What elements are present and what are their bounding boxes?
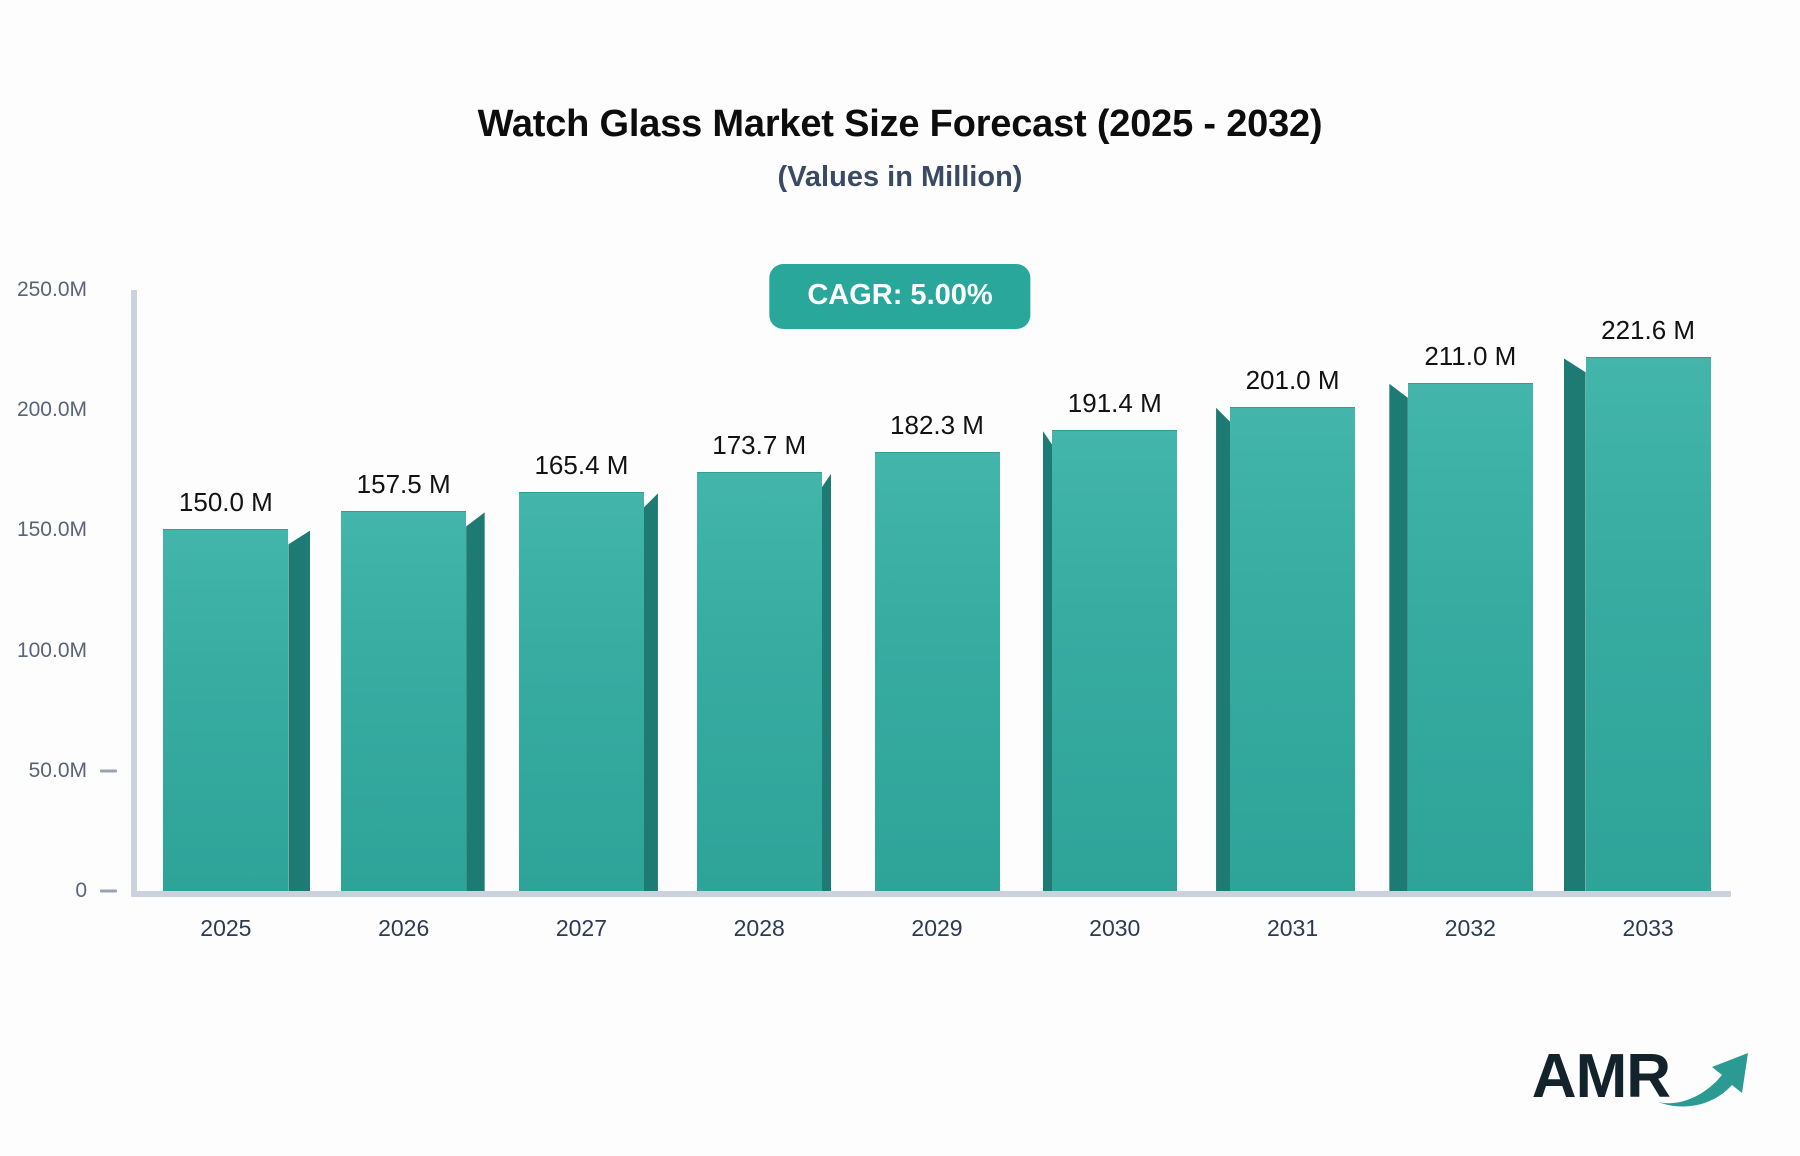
growth-arrow-icon: [1656, 1047, 1752, 1114]
bar-column[interactable]: 157.5 M: [341, 290, 466, 891]
x-axis-labels: 202520262027202820292030203120322033: [131, 915, 1731, 955]
bar-front-face: [1408, 383, 1533, 891]
bar-column[interactable]: 150.0 M: [163, 290, 288, 891]
bar-series: 150.0 M157.5 M165.4 M173.7 M182.3 M191.4…: [131, 290, 1731, 897]
bar-value-label: 211.0 M: [1424, 341, 1516, 372]
bar-value-label: 191.4 M: [1068, 388, 1162, 419]
bar-column[interactable]: 182.3 M: [875, 290, 1000, 891]
logo-wordmark: AMR: [1532, 1046, 1670, 1108]
bar-value-label: 221.6 M: [1601, 315, 1695, 346]
bar-value-label: 201.0 M: [1246, 365, 1340, 396]
x-axis-tick-label: 2029: [911, 915, 962, 942]
bar-front-face: [697, 472, 822, 891]
bar-front-face: [1230, 407, 1355, 891]
bar-value-label: 165.4 M: [534, 450, 628, 481]
bar-column[interactable]: 173.7 M: [697, 290, 822, 891]
y-axis-tick-label: 100.0M: [17, 639, 87, 663]
x-axis-tick-label: 2031: [1267, 915, 1318, 942]
bar-front-face: [1052, 430, 1177, 891]
bar-value-label: 157.5 M: [357, 469, 451, 500]
y-axis-tick-label: 200.0M: [17, 398, 87, 422]
bar-value-label: 173.7 M: [712, 430, 806, 461]
bar-front-face: [1586, 357, 1711, 891]
y-axis-labels: 250.0M200.0M150.0M100.0M50.0M0: [0, 290, 131, 897]
bar-side-face: [288, 530, 310, 891]
bar-column[interactable]: 191.4 M: [1052, 290, 1177, 891]
bar-front-face: [519, 492, 644, 891]
x-axis-tick-label: 2032: [1445, 915, 1496, 942]
bar-value-label: 182.3 M: [890, 410, 984, 441]
bar-column[interactable]: 165.4 M: [519, 290, 644, 891]
bar-column[interactable]: 221.6 M: [1586, 290, 1711, 891]
bar-side-face: [466, 512, 485, 891]
title-block: Watch Glass Market Size Forecast (2025 -…: [0, 104, 1800, 194]
y-axis-tick-label: 150.0M: [17, 518, 87, 542]
bar-side-face: [644, 493, 658, 891]
y-axis-tick-mark: [100, 890, 117, 893]
chart-subtitle: (Values in Million): [0, 162, 1800, 194]
x-axis-tick-label: 2030: [1089, 915, 1140, 942]
x-axis-tick-label: 2028: [734, 915, 785, 942]
bar-front-face: [163, 529, 288, 891]
bar-side-face: [822, 473, 832, 891]
y-axis-tick-label: 250.0M: [17, 278, 87, 302]
bar-front-face: [341, 511, 466, 891]
bar-column[interactable]: 201.0 M: [1230, 290, 1355, 891]
bar-value-label: 150.0 M: [179, 487, 273, 518]
amr-logo: AMR: [1532, 1040, 1752, 1114]
x-axis-tick-label: 2025: [200, 915, 251, 942]
bar-side-face: [1043, 431, 1053, 891]
y-axis-tick-label: 0: [75, 879, 87, 903]
y-axis-tick-mark: [100, 769, 117, 772]
plot-area: 150.0 M157.5 M165.4 M173.7 M182.3 M191.4…: [131, 290, 1731, 897]
x-axis-tick-label: 2033: [1623, 915, 1674, 942]
y-axis-tick-label: 50.0M: [29, 759, 87, 783]
x-axis-tick-label: 2027: [556, 915, 607, 942]
chart-canvas: Watch Glass Market Size Forecast (2025 -…: [0, 0, 1800, 1156]
bar-front-face: [875, 452, 1000, 891]
page-title: Watch Glass Market Size Forecast (2025 -…: [0, 104, 1800, 146]
bar-side-face: [1564, 358, 1586, 891]
bar-side-face: [1389, 384, 1408, 891]
bar-side-face: [1216, 408, 1230, 891]
bar-column[interactable]: 211.0 M: [1408, 290, 1533, 891]
x-axis-tick-label: 2026: [378, 915, 429, 942]
